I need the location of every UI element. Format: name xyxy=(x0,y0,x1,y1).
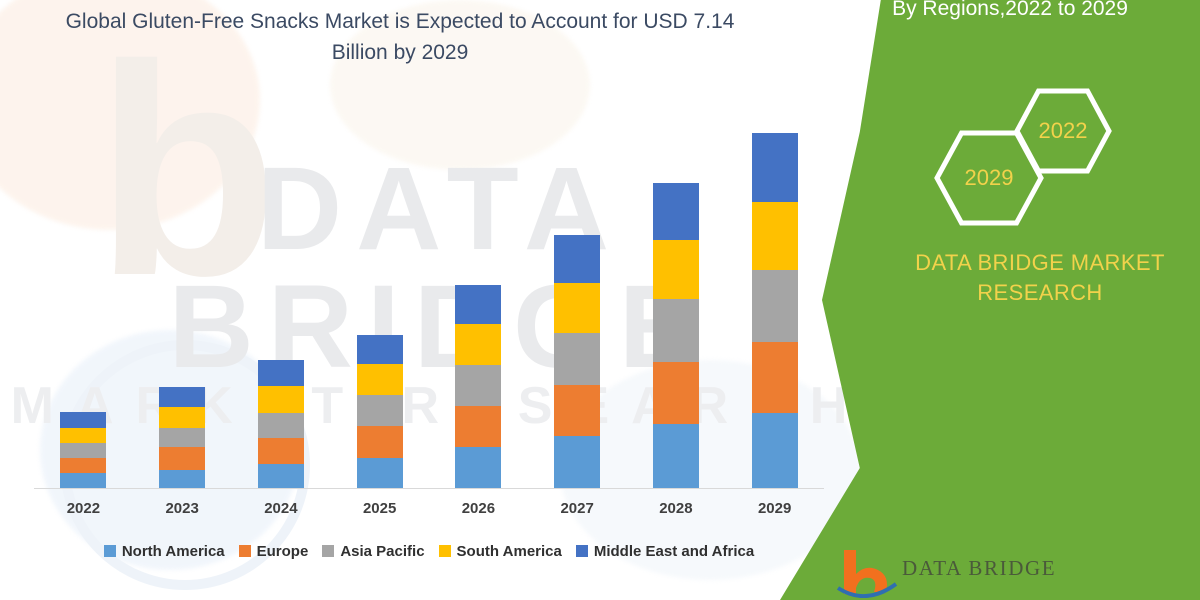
hexagon-2022-label: 2022 xyxy=(1014,118,1112,144)
legend-swatch-icon xyxy=(239,545,251,557)
x-axis-label-2025: 2025 xyxy=(335,500,425,517)
bar-group-2027[interactable] xyxy=(554,235,600,488)
legend-label: Middle East and Africa xyxy=(594,543,754,560)
bar-group-2024[interactable] xyxy=(258,360,304,488)
logo-text: DATA BRIDGE xyxy=(902,556,1056,581)
bar-segment[interactable] xyxy=(752,202,798,270)
bar-group-2022[interactable] xyxy=(60,412,106,488)
bar-segment[interactable] xyxy=(554,283,600,333)
bar-segment[interactable] xyxy=(653,240,699,299)
hexagon-badges: 2029 2022 xyxy=(918,88,1148,223)
bar-segment[interactable] xyxy=(258,438,304,464)
bar-segment[interactable] xyxy=(159,428,205,447)
legend-item[interactable]: Europe xyxy=(239,543,309,560)
bar-segment[interactable] xyxy=(554,436,600,488)
bar-segment[interactable] xyxy=(60,458,106,473)
bar-segment[interactable] xyxy=(554,333,600,385)
bar-segment[interactable] xyxy=(258,464,304,488)
bar-segment[interactable] xyxy=(653,362,699,424)
data-bridge-logo: DATA BRIDGE xyxy=(836,548,1096,600)
bar-segment[interactable] xyxy=(357,395,403,426)
bar-segment[interactable] xyxy=(357,335,403,364)
x-axis-label-2024: 2024 xyxy=(236,500,326,517)
bar-group-2028[interactable] xyxy=(653,183,699,488)
x-axis-label-2028: 2028 xyxy=(631,500,721,517)
bar-group-2025[interactable] xyxy=(357,335,403,488)
legend-item[interactable]: Asia Pacific xyxy=(322,543,424,560)
bar-segment[interactable] xyxy=(159,470,205,488)
bar-group-2029[interactable] xyxy=(752,133,798,488)
bar-segment[interactable] xyxy=(455,285,501,324)
bar-segment[interactable] xyxy=(258,386,304,413)
bar-segment[interactable] xyxy=(455,365,501,406)
x-axis-label-2029: 2029 xyxy=(730,500,820,517)
x-axis-label-2023: 2023 xyxy=(137,500,227,517)
bar-segment[interactable] xyxy=(455,324,501,365)
bar-segment[interactable] xyxy=(554,385,600,436)
hexagon-2022: 2022 xyxy=(1014,88,1112,174)
bar-segment[interactable] xyxy=(258,413,304,438)
legend-item[interactable]: North America xyxy=(104,543,225,560)
legend-label: Europe xyxy=(257,543,309,560)
x-axis-line xyxy=(34,488,824,489)
legend-label: Asia Pacific xyxy=(340,543,424,560)
brand-line-2: RESEARCH xyxy=(880,278,1200,308)
bar-segment[interactable] xyxy=(752,270,798,342)
bar-segment[interactable] xyxy=(258,360,304,386)
x-axis-labels: 20222023202420252026202720282029 xyxy=(34,498,824,524)
legend-item[interactable]: South America xyxy=(439,543,562,560)
bar-segment[interactable] xyxy=(554,235,600,283)
bar-segment[interactable] xyxy=(455,406,501,447)
bar-segment[interactable] xyxy=(357,426,403,458)
legend-swatch-icon xyxy=(439,545,451,557)
x-axis-label-2026: 2026 xyxy=(433,500,523,517)
legend-swatch-icon xyxy=(322,545,334,557)
bar-segment[interactable] xyxy=(159,407,205,428)
brand-name: DATA BRIDGE MARKET RESEARCH xyxy=(880,248,1200,308)
bar-segment[interactable] xyxy=(60,473,106,488)
bar-segment[interactable] xyxy=(159,387,205,407)
bar-group-2023[interactable] xyxy=(159,387,205,488)
panel-subtitle: By Regions,2022 to 2029 xyxy=(820,0,1200,24)
stacked-bar-chart xyxy=(34,100,824,488)
bar-segment[interactable] xyxy=(357,364,403,395)
bar-segment[interactable] xyxy=(653,424,699,488)
legend-label: South America xyxy=(457,543,562,560)
chart-legend: North AmericaEuropeAsia PacificSouth Ame… xyxy=(34,538,824,564)
bar-group-2026[interactable] xyxy=(455,285,501,488)
bar-segment[interactable] xyxy=(60,428,106,443)
logo-mark-icon xyxy=(836,548,898,598)
bar-segment[interactable] xyxy=(159,447,205,470)
bar-segment[interactable] xyxy=(60,412,106,428)
bar-segment[interactable] xyxy=(752,133,798,202)
legend-item[interactable]: Middle East and Africa xyxy=(576,543,754,560)
bar-segment[interactable] xyxy=(653,183,699,240)
bar-segment[interactable] xyxy=(752,413,798,488)
bar-segment[interactable] xyxy=(653,299,699,362)
legend-swatch-icon xyxy=(576,545,588,557)
bar-segment[interactable] xyxy=(357,458,403,488)
x-axis-label-2027: 2027 xyxy=(532,500,622,517)
page-title: Global Gluten-Free Snacks Market is Expe… xyxy=(40,6,760,68)
infographic-canvas: b DATA BRIDGE MARKET RESEARCH Global Glu… xyxy=(0,0,1200,600)
bar-segment[interactable] xyxy=(455,447,501,488)
bar-segment[interactable] xyxy=(752,342,798,413)
bar-segment[interactable] xyxy=(60,443,106,458)
brand-line-1: DATA BRIDGE MARKET xyxy=(880,248,1200,278)
legend-swatch-icon xyxy=(104,545,116,557)
legend-label: North America xyxy=(122,543,225,560)
x-axis-label-2022: 2022 xyxy=(38,500,128,517)
